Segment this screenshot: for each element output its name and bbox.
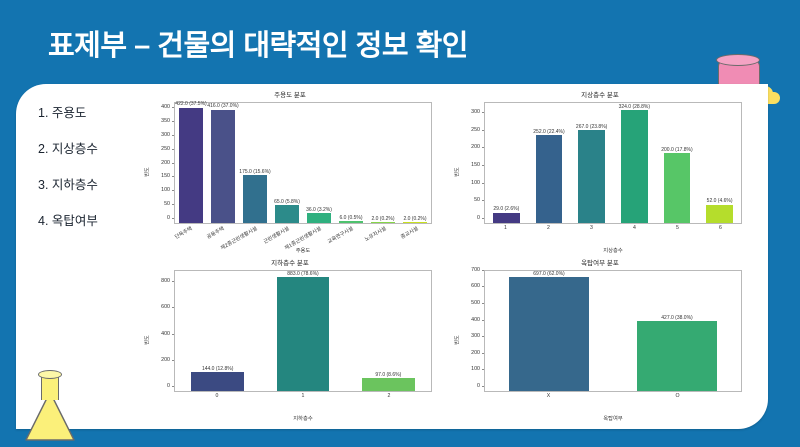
- list-item[interactable]: 1. 주용도: [38, 102, 150, 121]
- bar[interactable]: [339, 221, 362, 223]
- bar-value-label: 883.0 (78.6%): [287, 271, 318, 277]
- bar[interactable]: [371, 222, 394, 223]
- yellow-flask-icon: [18, 362, 82, 444]
- bar-value-label: 175.0 (15.6%): [239, 169, 270, 175]
- y-tick-label: 150: [161, 173, 170, 179]
- y-tick-label: 500: [471, 300, 480, 306]
- bar-series: 697.0 (62.0%)427.0 (38.0%): [485, 271, 741, 391]
- y-tick-label: 400: [161, 331, 170, 337]
- y-tick-label: 0: [477, 215, 480, 221]
- bar-value-label: 144.0 (12.8%): [202, 366, 233, 372]
- y-tick-label: 600: [161, 304, 170, 310]
- x-tick-label: 0: [216, 393, 219, 399]
- bar[interactable]: [664, 153, 690, 223]
- bar[interactable]: [536, 135, 562, 223]
- bar[interactable]: [621, 110, 647, 223]
- y-axis: 050100150200250300350400: [140, 102, 174, 224]
- bar-column[interactable]: 2.0 (0.2%): [371, 103, 394, 223]
- bar[interactable]: [191, 372, 244, 391]
- x-tick-label: 2: [388, 393, 391, 399]
- bar-column[interactable]: 697.0 (62.0%): [509, 271, 588, 391]
- x-tick-label: 5: [676, 225, 679, 231]
- chart-jisangcheungsu: 지상층수 분포 050100150200250300 빈도 29.0 (2.6%…: [450, 88, 750, 256]
- x-tick-label: 6: [719, 225, 722, 231]
- bar-series: 144.0 (12.8%)883.0 (78.6%)97.0 (8.6%): [175, 271, 431, 391]
- list-item[interactable]: 2. 지상층수: [38, 138, 150, 157]
- bar[interactable]: [706, 205, 732, 223]
- bar-series: 29.0 (2.6%)252.0 (22.4%)267.0 (23.8%)324…: [485, 103, 741, 223]
- x-tick-label: 3: [590, 225, 593, 231]
- y-tick-label: 600: [471, 283, 480, 289]
- plot-area: 29.0 (2.6%)252.0 (22.4%)267.0 (23.8%)324…: [484, 102, 742, 224]
- y-tick-label: 300: [161, 132, 170, 138]
- bar-column[interactable]: 324.0 (28.8%): [621, 103, 647, 223]
- bar[interactable]: [362, 378, 415, 391]
- chart-title: 지상층수 분포: [450, 89, 750, 99]
- y-axis-label: 빈도: [143, 167, 150, 177]
- y-tick-label: 800: [161, 278, 170, 284]
- bar-column[interactable]: 427.0 (38.0%): [637, 271, 716, 391]
- bar[interactable]: [509, 277, 588, 391]
- plot-area: 144.0 (12.8%)883.0 (78.6%)97.0 (8.6%): [174, 270, 432, 392]
- y-axis: 050100150200250300: [450, 102, 484, 224]
- y-tick-label: 100: [161, 187, 170, 193]
- list-item[interactable]: 4. 옥탑여부: [38, 210, 150, 229]
- bar-column[interactable]: 6.0 (0.5%): [339, 103, 362, 223]
- y-axis-label: 빈도: [143, 335, 150, 345]
- bar[interactable]: [578, 130, 604, 223]
- x-tick-label: 단독주택: [174, 225, 194, 241]
- bar-value-label: 427.0 (38.0%): [661, 315, 692, 321]
- x-axis-label: 옥탑여부: [484, 414, 742, 422]
- y-axis: 0100200300400500600700: [450, 270, 484, 392]
- bar[interactable]: [637, 321, 716, 391]
- page-title: 표제부 – 건물의 대략적인 정보 확인: [48, 22, 468, 64]
- y-tick-label: 100: [471, 366, 480, 372]
- bar-column[interactable]: 883.0 (78.6%): [277, 271, 330, 391]
- y-tick-label: 400: [471, 317, 480, 323]
- y-tick-label: 50: [164, 201, 170, 207]
- y-axis: 0200400600800: [140, 270, 174, 392]
- bar-value-label: 267.0 (23.8%): [576, 124, 607, 130]
- charts-grid: 주용도 분포 050100150200250300350400 빈도 422.0…: [140, 86, 766, 427]
- y-tick-label: 0: [167, 215, 170, 221]
- bar-value-label: 2.0 (0.2%): [371, 216, 394, 222]
- bar-value-label: 416.0 (37.0%): [207, 103, 238, 109]
- bar-column[interactable]: 416.0 (37.0%): [211, 103, 234, 223]
- y-tick-label: 0: [167, 383, 170, 389]
- x-tick-label: O: [675, 393, 679, 399]
- x-axis-label: 주용도: [174, 246, 432, 254]
- bar[interactable]: [211, 110, 234, 223]
- bar[interactable]: [403, 222, 426, 223]
- flask-rim: [38, 370, 62, 379]
- bar-column[interactable]: 252.0 (22.4%): [536, 103, 562, 223]
- chart-jooyongdo: 주용도 분포 050100150200250300350400 빈도 422.0…: [140, 88, 440, 256]
- bar-value-label: 422.0 (37.5%): [175, 101, 206, 107]
- content-card: 1. 주용도 2. 지상층수 3. 지하층수 4. 옥탑여부 주용도 분포 05…: [16, 84, 768, 429]
- y-tick-label: 350: [161, 118, 170, 124]
- bar-value-label: 97.0 (8.6%): [375, 372, 401, 378]
- bar-series: 422.0 (37.5%)416.0 (37.0%)175.0 (15.6%)6…: [175, 103, 431, 223]
- bar-column[interactable]: 144.0 (12.8%): [191, 271, 244, 391]
- bar-column[interactable]: 97.0 (8.6%): [362, 271, 415, 391]
- flask-neck: [41, 376, 59, 400]
- bar[interactable]: [179, 108, 202, 223]
- x-tick-label: 공동주택: [206, 225, 226, 241]
- y-tick-label: 200: [161, 160, 170, 166]
- y-tick-label: 700: [471, 267, 480, 273]
- y-tick-label: 300: [471, 109, 480, 115]
- y-tick-label: 250: [161, 146, 170, 152]
- bar-column[interactable]: 29.0 (2.6%): [493, 103, 519, 223]
- bar-column[interactable]: 422.0 (37.5%): [179, 103, 202, 223]
- bar-value-label: 36.0 (3.2%): [306, 207, 332, 213]
- bar-value-label: 65.0 (5.8%): [274, 199, 300, 205]
- y-tick-label: 150: [471, 162, 480, 168]
- slide-root: 표제부 – 건물의 대략적인 정보 확인 1. 주용도 2. 지상층수 3. 지…: [0, 0, 800, 447]
- chart-title: 옥탑여부 분포: [450, 257, 750, 267]
- x-tick-label: 근린생활시설: [262, 225, 290, 245]
- bar-value-label: 324.0 (28.8%): [619, 104, 650, 110]
- y-tick-label: 250: [471, 127, 480, 133]
- chart-title: 지하층수 분포: [140, 257, 440, 267]
- x-tick-label: 노유자시설: [363, 225, 387, 243]
- bar-column[interactable]: 267.0 (23.8%): [578, 103, 604, 223]
- bar-value-label: 6.0 (0.5%): [339, 215, 362, 221]
- bar-value-label: 29.0 (2.6%): [493, 206, 519, 212]
- y-tick-label: 0: [477, 383, 480, 389]
- x-tick-label: 교육연구시설: [327, 225, 355, 245]
- y-tick-label: 200: [161, 357, 170, 363]
- y-tick-label: 400: [161, 104, 170, 110]
- beaker-rim: [716, 54, 760, 66]
- y-tick-label: 100: [471, 180, 480, 186]
- bar-value-label: 52.0 (4.6%): [707, 198, 733, 204]
- x-axis-label: 지상층수: [484, 246, 742, 254]
- x-tick-label: 1: [302, 393, 305, 399]
- bar[interactable]: [275, 205, 298, 223]
- bar[interactable]: [243, 175, 266, 223]
- plot-area: 422.0 (37.5%)416.0 (37.0%)175.0 (15.6%)6…: [174, 102, 432, 224]
- bar-column[interactable]: 36.0 (3.2%): [307, 103, 330, 223]
- y-tick-label: 300: [471, 333, 480, 339]
- chart-jihacheungsu: 지하층수 분포 0200400600800 빈도 144.0 (12.8%)88…: [140, 256, 440, 424]
- y-tick-label: 50: [474, 197, 480, 203]
- plot-area: 697.0 (62.0%)427.0 (38.0%): [484, 270, 742, 392]
- chart-title: 주용도 분포: [140, 89, 440, 99]
- bar[interactable]: [307, 213, 330, 223]
- x-tick-label: 4: [633, 225, 636, 231]
- topic-list: 1. 주용도 2. 지상층수 3. 지하층수 4. 옥탑여부: [38, 102, 150, 246]
- list-item[interactable]: 3. 지하층수: [38, 174, 150, 193]
- x-tick-label: 종교시설: [399, 225, 419, 241]
- y-tick-label: 200: [471, 350, 480, 356]
- bar-value-label: 200.0 (17.8%): [661, 147, 692, 153]
- x-tick-label: 2: [547, 225, 550, 231]
- bar-value-label: 252.0 (22.4%): [533, 129, 564, 135]
- bar-column[interactable]: 175.0 (15.6%): [243, 103, 266, 223]
- chart-oktapyeobu: 옥탑여부 분포 0100200300400500600700 빈도 697.0 …: [450, 256, 750, 424]
- x-tick-label: 1: [504, 225, 507, 231]
- bar[interactable]: [277, 277, 330, 391]
- y-tick-label: 200: [471, 144, 480, 150]
- bar-column[interactable]: 200.0 (17.8%): [664, 103, 690, 223]
- bar-column[interactable]: 2.0 (0.2%): [403, 103, 426, 223]
- bar-column[interactable]: 65.0 (5.8%): [275, 103, 298, 223]
- x-axis-label: 지하층수: [174, 414, 432, 422]
- y-axis-label: 빈도: [453, 335, 460, 345]
- bar-value-label: 697.0 (62.0%): [533, 271, 564, 277]
- x-tick-label: X: [547, 393, 550, 399]
- bar[interactable]: [493, 213, 519, 223]
- bar-column[interactable]: 52.0 (4.6%): [706, 103, 732, 223]
- bar-value-label: 2.0 (0.2%): [403, 216, 426, 222]
- y-axis-label: 빈도: [453, 167, 460, 177]
